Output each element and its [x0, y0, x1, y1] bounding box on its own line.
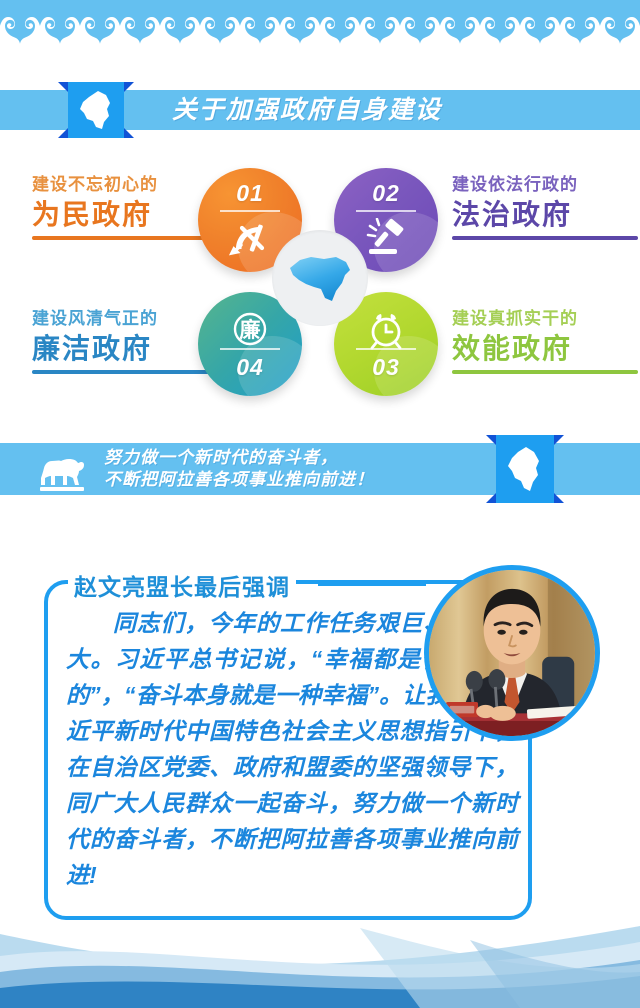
four-governments-diagram: 建设不忘初心的 为民政府 建设风清气正的 廉洁政府 建设依法行政的 法治政府 建… [0, 160, 640, 410]
alxa-map-icon [284, 251, 356, 306]
item-lead-01: 建设不忘初心的 [32, 174, 218, 196]
page-title: 关于加强政府自身建设 [172, 90, 442, 130]
item-number-04: 04 [198, 354, 302, 381]
item-label-03: 建设真抓实干的 效能政府 [452, 308, 638, 374]
item-label-01: 建设不忘初心的 为民政府 [32, 174, 218, 240]
item-rule-04 [32, 370, 218, 374]
alxa-map-icon [505, 445, 545, 493]
item-rule-02 [452, 236, 638, 240]
item-rule-01 [32, 236, 218, 240]
item-number-01: 01 [198, 180, 302, 207]
banner-badge [496, 435, 554, 503]
item-lead-03: 建设真抓实干的 [452, 308, 638, 330]
slogan-banner: 努力做一个新时代的奋斗者， 不断把阿拉善各项事业推向前进！ [0, 435, 640, 503]
quote-title: 赵文亮盟长最后强调 [68, 568, 296, 602]
mongolian-cloud-border [0, 0, 640, 56]
infographic-page: 关于加强政府自身建设 建设不忘初心的 为民政府 建设风清气正的 廉洁政府 建设依… [0, 0, 640, 1008]
item-rule-03 [452, 370, 638, 374]
item-label-04: 建设风清气正的 廉洁政府 [32, 308, 218, 374]
speaker-portrait [424, 565, 600, 741]
svg-text:廉: 廉 [240, 318, 261, 342]
item-title-01: 为民政府 [32, 198, 218, 232]
item-title-03: 效能政府 [452, 332, 638, 366]
item-title-02: 法治政府 [452, 198, 638, 232]
alxa-map-icon [76, 89, 116, 131]
slogan-line-2: 不断把阿拉善各项事业推向前进！ [104, 469, 484, 491]
section-header: 关于加强政府自身建设 [0, 82, 640, 138]
slogan-text: 努力做一个新时代的奋斗者， 不断把阿拉善各项事业推向前进！ [104, 447, 484, 491]
camel-icon [34, 451, 90, 495]
item-title-04: 廉洁政府 [32, 332, 218, 366]
quote-title-rule [318, 582, 426, 586]
slogan-line-1: 努力做一个新时代的奋斗者， [104, 447, 484, 469]
item-number-03: 03 [334, 354, 438, 381]
item-number-02: 02 [334, 180, 438, 207]
item-lead-04: 建设风清气正的 [32, 308, 218, 330]
item-label-02: 建设依法行政的 法治政府 [452, 174, 638, 240]
header-badge [68, 82, 124, 138]
quote-section: 赵文亮盟长最后强调 同志们，今年的工作任务艰巨、贵任重大。习近平总书记说，“幸福… [0, 565, 640, 945]
item-lead-02: 建设依法行政的 [452, 174, 638, 196]
center-map-badge [272, 230, 368, 326]
